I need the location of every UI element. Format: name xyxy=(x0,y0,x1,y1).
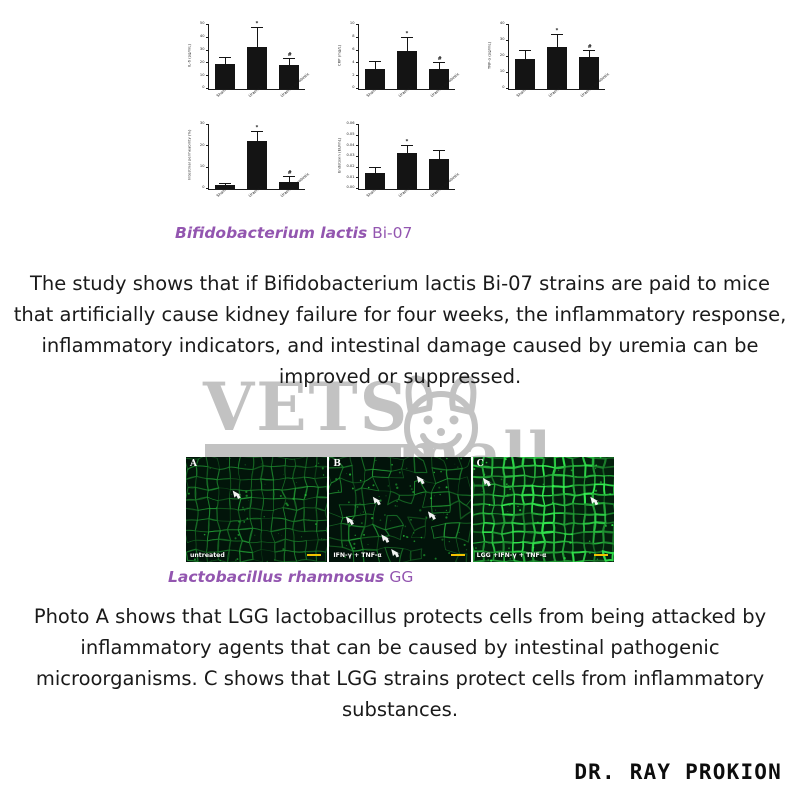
paragraph-lactobacillus: Photo A shows that LGG lactobacillus pro… xyxy=(10,601,790,725)
y-axis-tick: 0.03 xyxy=(356,156,359,157)
significance-marker: * xyxy=(406,140,409,145)
bar xyxy=(247,47,267,89)
x-axis-tick-label: Sham xyxy=(366,188,377,198)
error-bar xyxy=(375,62,376,69)
error-bar xyxy=(439,151,440,160)
chart-row-bottom: Intestinal permeability (%) 0102030Sham*… xyxy=(186,122,616,217)
error-bar xyxy=(257,28,258,48)
error-bar xyxy=(557,35,558,46)
significance-marker: # xyxy=(288,171,292,176)
error-bar xyxy=(525,51,526,58)
microscopy-panel-a-letter: A xyxy=(190,459,197,469)
chart-il6-plot: 01020304050Sham*Uraemia#Uraemia+probioti… xyxy=(208,25,305,90)
y-axis-tick: 20 xyxy=(506,56,509,57)
y-axis-tick: 0.00 xyxy=(356,188,359,189)
y-axis-tick: 20 xyxy=(206,145,209,146)
error-bar-cap xyxy=(583,50,594,51)
error-bar xyxy=(257,132,258,141)
y-axis-tick-label: 10 xyxy=(500,70,505,74)
error-bar-cap xyxy=(519,50,530,51)
error-bar-cap xyxy=(219,183,230,184)
y-axis-tick-label: 4 xyxy=(352,61,354,65)
chart-permeability: Intestinal permeability (%) 0102030Sham*… xyxy=(186,122,336,217)
error-bar-cap xyxy=(401,37,412,38)
error-bar-cap xyxy=(551,34,562,35)
caption-bifidobacterium-strain: Bi-07 xyxy=(367,224,412,242)
y-axis-tick: 0.05 xyxy=(356,135,359,136)
error-bar-cap xyxy=(401,145,412,146)
error-bar-cap xyxy=(251,131,262,132)
significance-marker: * xyxy=(256,126,259,131)
y-axis-tick-label: 0.02 xyxy=(346,165,354,169)
chart-crp-plot: 0246810Sham*Uraemia#Uraemia+probiotic xyxy=(358,25,455,90)
y-axis-tick-label: 0.00 xyxy=(346,186,354,190)
y-axis-tick-label: 0 xyxy=(502,86,504,90)
y-axis-tick: 0 xyxy=(206,188,209,189)
chart-il6: IL-6 (pg/mL) 01020304050Sham*Uraemia#Ura… xyxy=(186,22,336,122)
x-axis-tick-label: Sham xyxy=(366,88,377,98)
error-bar xyxy=(589,51,590,57)
error-bar xyxy=(225,58,226,64)
y-axis-tick: 40 xyxy=(206,37,209,38)
caption-bifidobacterium: Bifidobacterium lactis Bi-07 xyxy=(175,224,412,242)
error-bar xyxy=(407,38,408,50)
microscopy-panel-a-caption: untreated xyxy=(190,552,225,559)
bar xyxy=(515,59,535,89)
chart-row-top: IL-6 (pg/mL) 01020304050Sham*Uraemia#Ura… xyxy=(186,22,616,122)
cell-field-b xyxy=(329,457,470,562)
error-bar xyxy=(225,184,226,185)
y-axis-tick-label: 30 xyxy=(200,48,205,52)
bar xyxy=(215,64,235,89)
error-bar xyxy=(439,63,440,69)
chart-tnfa-ylabel: TNF-α (pg/mL) xyxy=(484,22,495,88)
y-axis-tick-label: 0.03 xyxy=(346,154,354,158)
significance-marker: * xyxy=(256,22,259,27)
y-axis-tick: 0 xyxy=(506,88,509,89)
microscopy-panel-b-caption: IFN-γ + TNF-α xyxy=(333,552,381,559)
y-axis-tick: 0.01 xyxy=(356,177,359,178)
error-bar xyxy=(289,59,290,65)
error-bar-cap xyxy=(369,61,380,62)
y-axis-tick: 6 xyxy=(356,50,359,51)
chart-crp: CRP (mg/L) 0246810Sham*Uraemia#Uraemia+p… xyxy=(336,22,486,122)
y-axis-tick-label: 0.06 xyxy=(346,122,354,126)
x-axis-tick-label: Sham xyxy=(216,188,227,198)
y-axis-tick: 10 xyxy=(206,167,209,168)
significance-marker: * xyxy=(556,29,559,34)
chart-endotoxin: Endotoxin (EU/mL) 0.000.010.020.030.040.… xyxy=(336,122,486,217)
y-axis-tick-label: 20 xyxy=(500,54,505,58)
y-axis-tick: 30 xyxy=(506,40,509,41)
error-bar-cap xyxy=(283,176,294,177)
bar xyxy=(247,141,267,189)
author-signature: DR. RAY PROKION xyxy=(574,760,782,784)
bar-chart-figure: IL-6 (pg/mL) 01020304050Sham*Uraemia#Ura… xyxy=(186,22,616,217)
scale-bar-c xyxy=(594,554,608,557)
y-axis-tick: 0.02 xyxy=(356,167,359,168)
significance-marker: # xyxy=(438,57,442,62)
y-axis-tick-label: 0 xyxy=(202,86,204,90)
caption-bifidobacterium-species: Bifidobacterium lactis xyxy=(175,224,367,242)
caption-lactobacillus-strain: GG xyxy=(384,568,413,586)
y-axis-tick: 20 xyxy=(206,62,209,63)
error-bar-cap xyxy=(369,167,380,168)
y-axis-tick-label: 0 xyxy=(352,86,354,90)
scale-bar-a xyxy=(307,554,321,557)
error-bar-cap xyxy=(219,57,230,58)
y-axis-tick: 0.04 xyxy=(356,145,359,146)
error-bar-cap xyxy=(283,58,294,59)
y-axis-tick-label: 0.01 xyxy=(346,176,354,180)
error-bar-cap xyxy=(251,27,262,28)
y-axis-tick-label: 0 xyxy=(202,186,204,190)
microscopy-panel-b-letter: B xyxy=(333,459,341,469)
y-axis-tick: 0 xyxy=(206,88,209,89)
scale-bar-b xyxy=(451,554,465,557)
bar xyxy=(397,153,417,189)
caption-lactobacillus-species: Lactobacillus rhamnosus xyxy=(168,568,384,586)
y-axis-tick: 10 xyxy=(506,72,509,73)
error-bar xyxy=(375,168,376,173)
y-axis-tick-label: 40 xyxy=(200,35,205,39)
y-axis-tick-label: 20 xyxy=(200,61,205,65)
bar xyxy=(397,51,417,89)
error-bar xyxy=(407,146,408,152)
y-axis-tick-label: 10 xyxy=(200,74,205,78)
y-axis-tick: 0.06 xyxy=(356,124,359,125)
y-axis-tick: 4 xyxy=(356,62,359,63)
chart-endotoxin-plot: 0.000.010.020.030.040.050.06Sham*Uraemia… xyxy=(358,125,455,190)
y-axis-tick: 30 xyxy=(206,124,209,125)
bar xyxy=(547,47,567,89)
chart-permeability-ylabel: Intestinal permeability (%) xyxy=(184,122,195,188)
chart-tnfa-plot: 010203040Sham*Uraemia#Uraemia+probiotic xyxy=(508,25,605,90)
y-axis-tick-label: 10 xyxy=(200,165,205,169)
error-bar xyxy=(289,177,290,182)
caption-lactobacillus: Lactobacillus rhamnosus GG xyxy=(168,568,413,586)
y-axis-tick-label: 6 xyxy=(352,48,354,52)
x-axis-tick-label: Sham xyxy=(216,88,227,98)
microscopy-figure: A untreated B IFN-γ + TNF-α C LGG +IFN-γ… xyxy=(186,457,614,562)
cell-field-c xyxy=(473,457,614,562)
y-axis-tick: 30 xyxy=(206,50,209,51)
microscopy-panel-a: A untreated xyxy=(186,457,327,562)
y-axis-tick-label: 0.04 xyxy=(346,144,354,148)
microscopy-panel-b: B IFN-γ + TNF-α xyxy=(329,457,470,562)
y-axis-tick-label: 10 xyxy=(350,22,355,26)
y-axis-tick: 40 xyxy=(506,24,509,25)
y-axis-tick: 0 xyxy=(356,88,359,89)
y-axis-tick-label: 50 xyxy=(200,22,205,26)
chart-tnfa: TNF-α (pg/mL) 010203040Sham*Uraemia#Urae… xyxy=(486,22,616,122)
microscopy-panel-c-caption: LGG +IFN-γ + TNF-α xyxy=(477,552,547,559)
y-axis-tick-label: 20 xyxy=(200,144,205,148)
bar xyxy=(365,69,385,89)
y-axis-tick-label: 40 xyxy=(500,22,505,26)
y-axis-tick: 2 xyxy=(356,75,359,76)
chart-row-bottom-spacer xyxy=(486,122,616,217)
y-axis-tick: 10 xyxy=(206,75,209,76)
error-bar-cap xyxy=(433,150,444,151)
cell-field-a xyxy=(186,457,327,562)
significance-marker: # xyxy=(288,53,292,58)
y-axis-tick-label: 8 xyxy=(352,35,354,39)
bar xyxy=(365,173,385,189)
chart-il6-ylabel: IL-6 (pg/mL) xyxy=(184,22,195,88)
y-axis-tick-label: 30 xyxy=(500,38,505,42)
y-axis-tick-label: 2 xyxy=(352,74,354,78)
y-axis-tick: 8 xyxy=(356,37,359,38)
chart-endotoxin-ylabel: Endotoxin (EU/mL) xyxy=(334,122,345,188)
paragraph-bifidobacterium: The study shows that if Bifidobacterium … xyxy=(10,268,790,392)
significance-marker: * xyxy=(406,32,409,37)
y-axis-tick: 50 xyxy=(206,24,209,25)
chart-crp-ylabel: CRP (mg/L) xyxy=(334,22,345,88)
error-bar-cap xyxy=(433,62,444,63)
microscopy-panel-c-letter: C xyxy=(477,459,484,469)
chart-permeability-plot: 0102030Sham*Uraemia#Uraemia+probiotic xyxy=(208,125,305,190)
x-axis-tick-label: Sham xyxy=(516,88,527,98)
y-axis-tick-label: 0.05 xyxy=(346,133,354,137)
y-axis-tick-label: 30 xyxy=(200,122,205,126)
significance-marker: # xyxy=(588,45,592,50)
microscopy-panel-c: C LGG +IFN-γ + TNF-α xyxy=(473,457,614,562)
y-axis-tick: 10 xyxy=(356,24,359,25)
